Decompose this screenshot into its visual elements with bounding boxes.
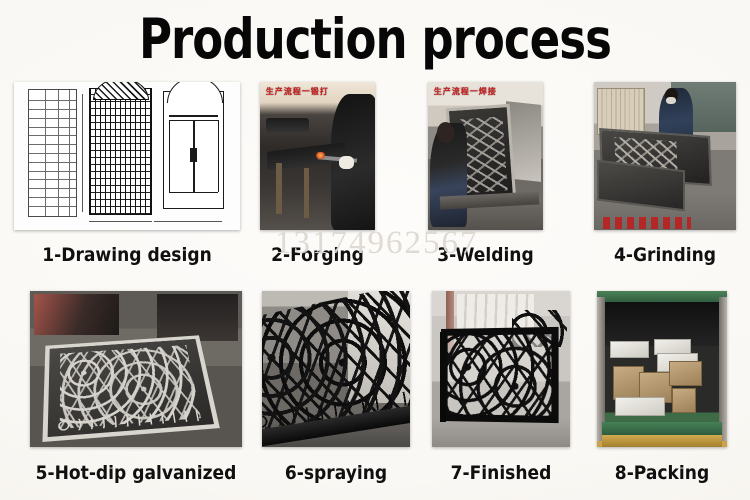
spraying-photo-icon bbox=[262, 291, 410, 447]
step-image-4[interactable] bbox=[594, 82, 736, 230]
welding-photo-icon bbox=[428, 82, 543, 230]
step-card-3[interactable]: 生产流程一焊接 bbox=[428, 82, 543, 230]
step-image-8[interactable] bbox=[597, 291, 727, 447]
step-card-4[interactable] bbox=[594, 82, 736, 230]
production-process-grid: 1-Drawing design 生产流程一锻打 2-Forging bbox=[0, 0, 750, 500]
step-image-3[interactable]: 生产流程一焊接 bbox=[428, 82, 543, 230]
step-caption-1: 1-Drawing design bbox=[25, 244, 228, 266]
step-image-6[interactable] bbox=[262, 291, 410, 447]
step-card-5[interactable] bbox=[30, 291, 242, 447]
step-caption-2: 2-Forging bbox=[261, 244, 374, 266]
door-plan-drawing bbox=[89, 88, 152, 215]
photo-overlay-text-4 bbox=[603, 217, 691, 229]
step-image-2[interactable]: 生产流程一锻打 bbox=[260, 82, 375, 230]
packing-photo-icon bbox=[597, 291, 727, 447]
step-image-5[interactable] bbox=[30, 291, 242, 447]
photo-overlay-text-2: 生产流程一锻打 bbox=[266, 86, 329, 97]
door-elevation-drawing bbox=[163, 91, 224, 209]
step-caption-4: 4-Grinding bbox=[601, 244, 729, 266]
cad-blueprint-icon bbox=[14, 82, 240, 230]
step-caption-6: 6-spraying bbox=[275, 462, 397, 484]
step-card-2[interactable]: 生产流程一锻打 bbox=[260, 82, 375, 230]
finished-gate-photo-icon bbox=[432, 291, 570, 447]
grinding-photo-icon bbox=[594, 82, 736, 230]
step-image-1[interactable] bbox=[14, 82, 240, 230]
spec-table bbox=[28, 89, 78, 216]
step-card-8[interactable] bbox=[597, 291, 727, 447]
step-card-7[interactable] bbox=[432, 291, 570, 447]
galvanized-photo-icon bbox=[30, 291, 242, 447]
photo-overlay-text-3: 生产流程一焊接 bbox=[434, 86, 497, 97]
step-caption-7: 7-Finished bbox=[439, 462, 563, 484]
step-caption-3: 3-Welding bbox=[429, 244, 542, 266]
step-card-1[interactable] bbox=[14, 82, 240, 230]
step-image-7[interactable] bbox=[432, 291, 570, 447]
step-caption-8: 8-Packing bbox=[604, 462, 721, 484]
step-card-6[interactable] bbox=[262, 291, 410, 447]
step-caption-5: 5-Hot-dip galvanized bbox=[26, 462, 246, 484]
forging-photo-icon bbox=[260, 82, 375, 230]
